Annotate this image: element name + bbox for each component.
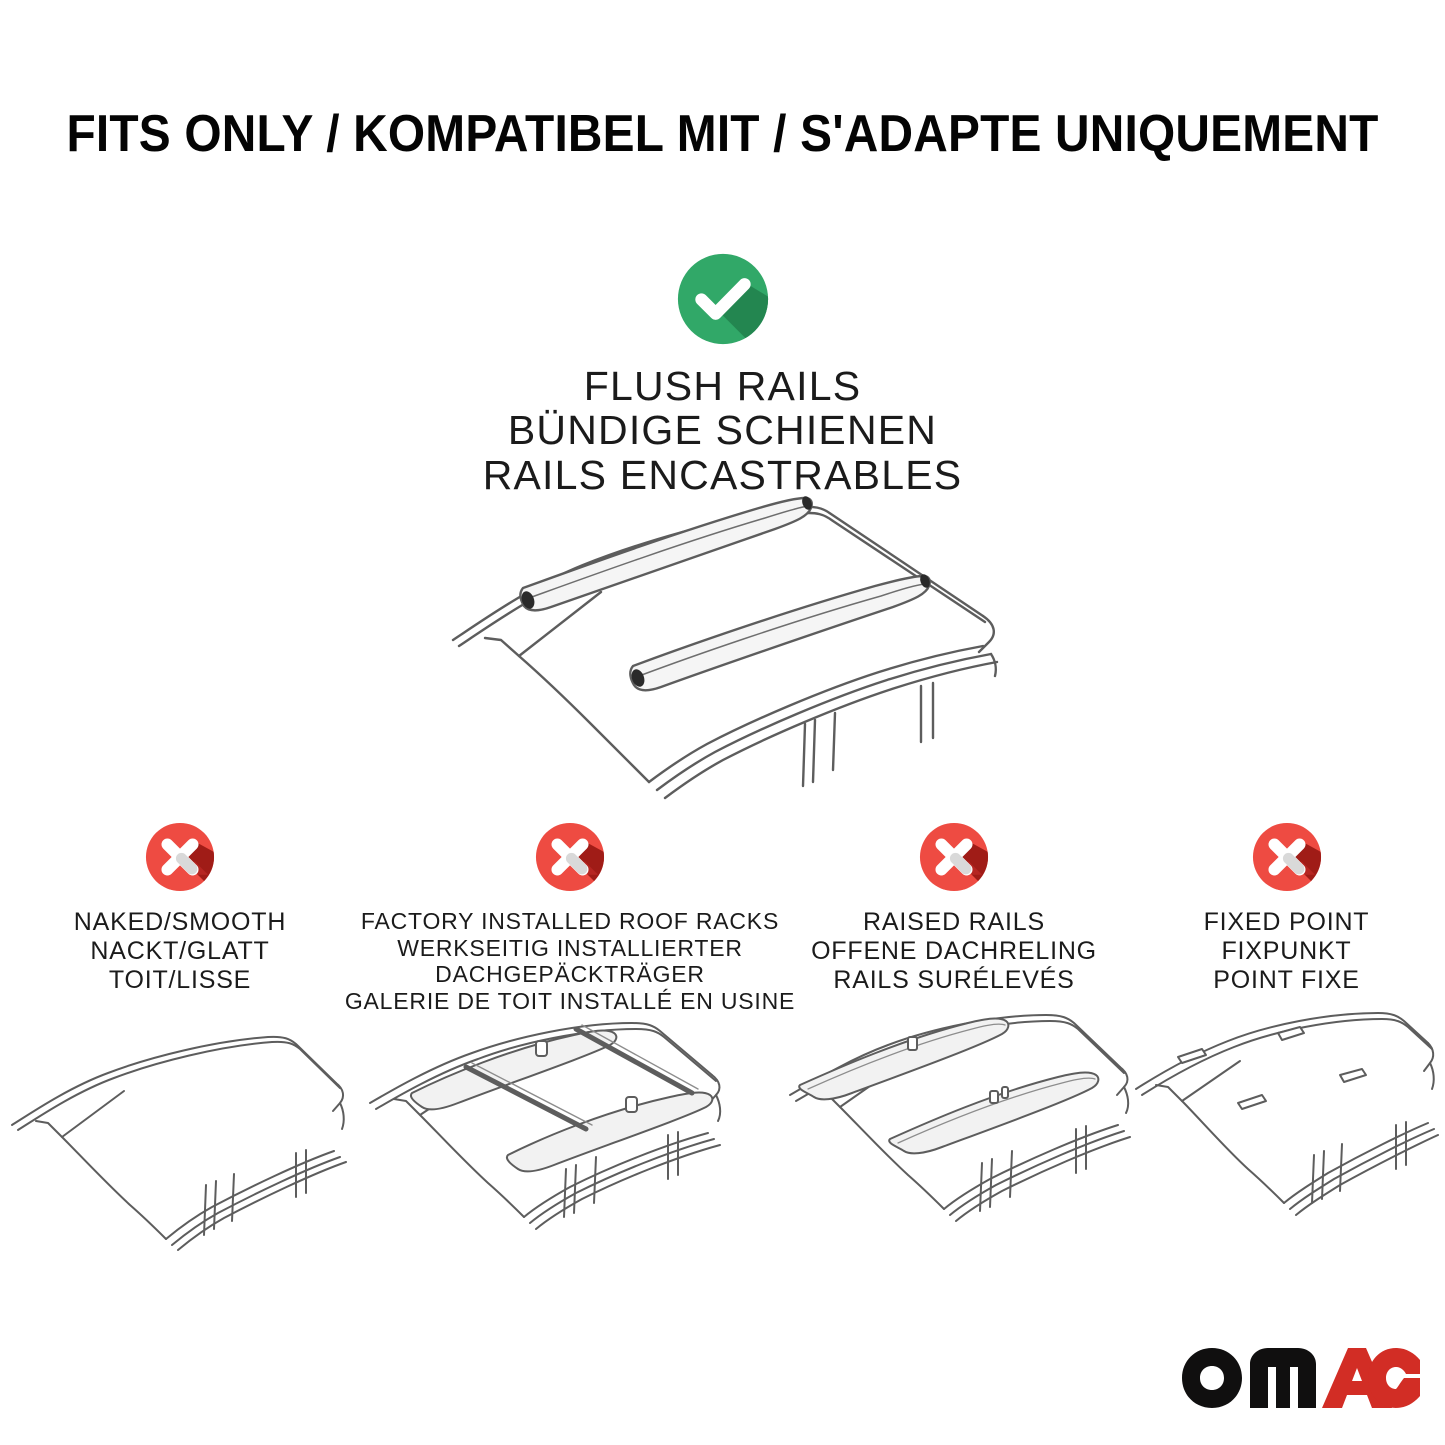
label-line-fr: GALERIE DE TOIT INSTALLÉ EN USINE: [345, 988, 795, 1015]
incompatible-labels: NAKED/SMOOTH NACKT/GLATT TOIT/LISSE: [74, 908, 286, 995]
compatible-label-en: FLUSH RAILS: [483, 364, 963, 408]
incompatible-labels: FACTORY INSTALLED ROOF RACKS WERKSEITIG …: [345, 908, 795, 1015]
label-line-en: FACTORY INSTALLED ROOF RACKS: [345, 908, 795, 935]
compatible-label-de: BÜNDIGE SCHIENEN: [483, 408, 963, 452]
label-line-de-1: WERKSEITIG INSTALLIERTER: [345, 935, 795, 962]
car-roof-with-flush-rails-illustration: [423, 470, 1023, 800]
label-line-de-2: DACHGEPÄCKTRÄGER: [345, 961, 795, 988]
label-line-de: NACKT/GLATT: [74, 937, 286, 966]
incompatible-grid: NAKED/SMOOTH NACKT/GLATT TOIT/LISSE: [0, 820, 1445, 1250]
compatibility-infographic: FITS ONLY / KOMPATIBEL MIT / S'ADAPTE UN…: [0, 0, 1445, 1445]
page-title: FITS ONLY / KOMPATIBEL MIT / S'ADAPTE UN…: [58, 104, 1387, 164]
logo-letter-m: [1250, 1348, 1316, 1408]
incompatible-item-raised-rails: RAISED RAILS OFFENE DACHRELING RAILS SUR…: [780, 820, 1128, 1250]
label-line-fr: TOIT/LISSE: [74, 966, 286, 995]
incompatible-item-fixed-point: FIXED POINT FIXPUNKT POINT FIXE: [1128, 820, 1445, 1250]
x-circle-icon: [917, 820, 991, 894]
incompatible-labels: RAISED RAILS OFFENE DACHRELING RAILS SUR…: [811, 908, 1097, 995]
x-circle-icon: [1250, 820, 1324, 894]
label-line-en: FIXED POINT: [1204, 908, 1370, 937]
omac-logo: [1180, 1347, 1420, 1409]
car-roof-raised-rails-illustration: [780, 1013, 1128, 1228]
incompatible-item-naked-smooth: NAKED/SMOOTH NACKT/GLATT TOIT/LISSE: [0, 820, 360, 1250]
label-line-de: OFFENE DACHRELING: [811, 937, 1097, 966]
x-circle-icon: [533, 820, 607, 894]
incompatible-item-factory-roof-racks: FACTORY INSTALLED ROOF RACKS WERKSEITIG …: [360, 820, 780, 1250]
label-line-de: FIXPUNKT: [1204, 937, 1370, 966]
check-circle-icon: [674, 250, 772, 348]
car-roof-fixed-point-illustration: [1128, 1013, 1445, 1228]
incompatible-labels: FIXED POINT FIXPUNKT POINT FIXE: [1204, 908, 1370, 995]
compatible-section: FLUSH RAILS BÜNDIGE SCHIENEN RAILS ENCAS…: [0, 250, 1445, 497]
car-roof-factory-roof-racks-illustration: [360, 1023, 780, 1238]
label-line-en: RAISED RAILS: [811, 908, 1097, 937]
label-line-en: NAKED/SMOOTH: [74, 908, 286, 937]
x-circle-icon: [143, 820, 217, 894]
label-line-fr: RAILS SURÉLEVÉS: [811, 966, 1097, 995]
car-roof-naked-smooth-illustration: [0, 1035, 360, 1250]
logo-letter-o: [1182, 1348, 1242, 1408]
label-line-fr: POINT FIXE: [1204, 966, 1370, 995]
